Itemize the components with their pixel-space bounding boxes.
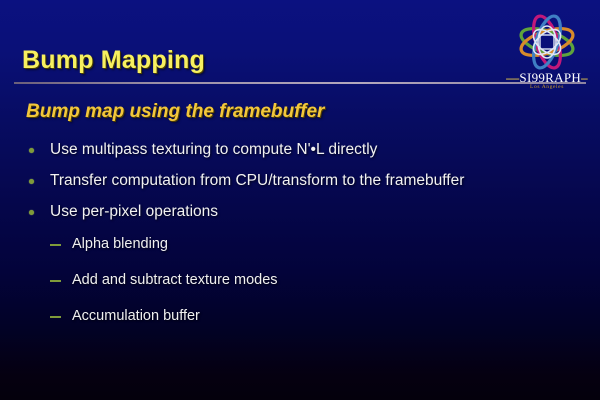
siggraph-rings-icon [498,12,596,74]
sub-bullet-text: Accumulation buffer [72,308,200,324]
slide-subtitle: Bump map using the framebuffer [26,101,324,123]
bullet-text: Use per-pixel operations [50,203,218,220]
bullet-dot-icon [29,210,34,215]
sub-list-item: Accumulation buffer [46,307,592,325]
presentation-slide: Bump Mapping Bump map using the framebuf… [0,0,600,400]
wordmark-dash-right: – [581,70,588,85]
bullet-dot-icon [29,148,34,153]
sub-bullet-text: Add and subtract texture modes [72,272,278,288]
sub-list-item: Alpha blending [46,235,592,253]
wordmark-dash-left: — [506,70,519,85]
wordmark-text: SI99RAPH [519,70,581,85]
sub-bullet-list: Alpha blending Add and subtract texture … [46,235,592,325]
bullet-dot-icon [29,179,34,184]
bullet-text: Transfer computation from CPU/transform … [50,172,464,189]
siggraph-city: Los Angeles [498,84,596,90]
slide-title: Bump Mapping [22,46,205,75]
bullet-dash-icon [50,316,61,318]
siggraph-logo: —SI99RAPH– Los Angeles [498,12,596,96]
bullet-text: Use multipass texturing to compute N'•L … [50,141,377,158]
bullet-dash-icon [50,280,61,282]
sub-bullet-text: Alpha blending [72,236,168,252]
bullet-dash-icon [50,244,61,246]
bullet-list: Use multipass texturing to compute N'•L … [20,140,592,343]
sub-list-item: Add and subtract texture modes [46,271,592,289]
list-item: Transfer computation from CPU/transform … [20,171,592,191]
list-item: Use per-pixel operations [20,202,592,222]
list-item: Use multipass texturing to compute N'•L … [20,140,592,160]
